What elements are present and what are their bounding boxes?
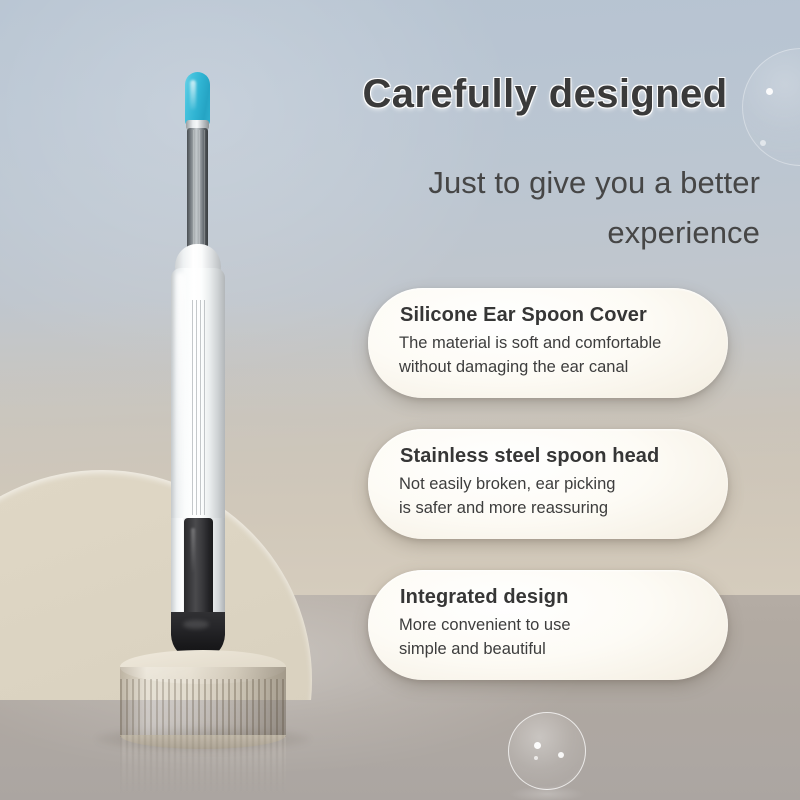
bubble-large-highlight-dot-secondary bbox=[760, 140, 766, 146]
bubble-large-highlight-dot bbox=[766, 88, 773, 95]
black-foot-highlight bbox=[183, 620, 209, 629]
page-subtitle: Just to give you a better experience bbox=[320, 158, 760, 257]
feature-card-line-2: simple and beautiful bbox=[399, 638, 706, 662]
feature-card-list: Silicone Ear Spoon Cover The material is… bbox=[368, 288, 728, 680]
feature-card-title: Integrated design bbox=[400, 586, 706, 609]
product-promo-image: Carefully designed Just to give you a be… bbox=[0, 0, 800, 800]
bubble-small-icon bbox=[508, 712, 586, 790]
feature-card-body: Not easily broken, ear picking is safer … bbox=[399, 473, 706, 521]
pedestal-shading-overlay bbox=[120, 667, 286, 737]
shaft-groove-line bbox=[193, 130, 194, 250]
silicone-tip-highlight bbox=[190, 80, 196, 110]
page-subtitle-line-2: experience bbox=[320, 208, 760, 258]
page-title: Carefully designed bbox=[330, 72, 760, 117]
pedestal-floor-reflection bbox=[120, 735, 286, 795]
feature-card-integrated-design: Integrated design More convenient to use… bbox=[368, 570, 728, 680]
handle-groove-lines bbox=[192, 300, 208, 515]
shaft-groove-line bbox=[204, 130, 205, 250]
feature-card-line-1: The material is soft and comfortable bbox=[399, 332, 706, 356]
bubble-small-reflection bbox=[510, 786, 584, 800]
pedestal-body bbox=[120, 667, 286, 737]
feature-card-body: The material is soft and comfortable wit… bbox=[399, 332, 706, 380]
shaft-groove-line bbox=[199, 130, 200, 250]
feature-card-line-2: without damaging the ear canal bbox=[399, 356, 706, 380]
feature-card-steel-head: Stainless steel spoon head Not easily br… bbox=[368, 429, 728, 539]
feature-card-body: More convenient to use simple and beauti… bbox=[399, 614, 706, 662]
feature-card-line-2: is safer and more reassuring bbox=[399, 497, 706, 521]
feature-card-silicone-cover: Silicone Ear Spoon Cover The material is… bbox=[368, 288, 728, 398]
feature-card-title: Stainless steel spoon head bbox=[400, 445, 706, 468]
silicone-ear-spoon-tip bbox=[185, 72, 210, 126]
bubble-small-highlight-dot-tertiary bbox=[534, 756, 538, 760]
feature-card-line-1: More convenient to use bbox=[399, 614, 706, 638]
feature-card-title: Silicone Ear Spoon Cover bbox=[400, 304, 706, 327]
handle-specular-highlight bbox=[176, 272, 185, 534]
bubble-small-highlight-dot-secondary bbox=[558, 752, 564, 758]
feature-card-line-1: Not easily broken, ear picking bbox=[399, 473, 706, 497]
black-base-highlight bbox=[191, 528, 195, 574]
bubble-small-highlight-dot bbox=[534, 742, 541, 749]
page-subtitle-line-1: Just to give you a better bbox=[320, 158, 760, 208]
